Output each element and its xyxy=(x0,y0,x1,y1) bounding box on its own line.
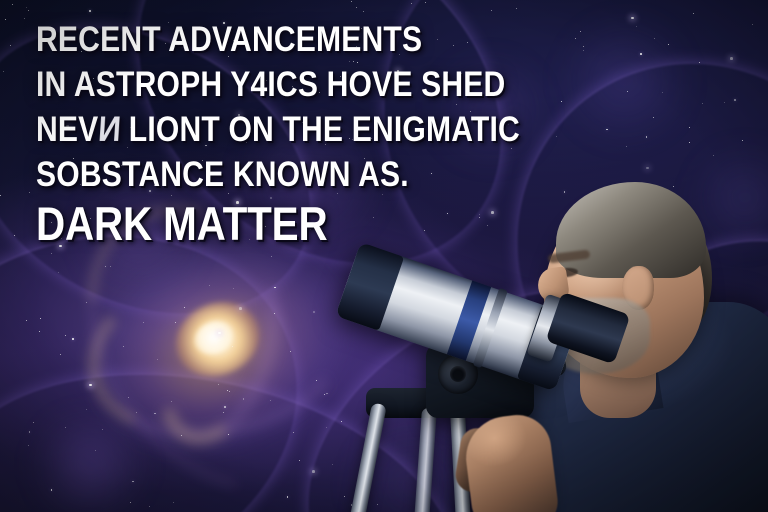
star xyxy=(689,127,690,128)
star xyxy=(627,91,628,92)
star xyxy=(26,320,27,321)
star xyxy=(223,412,224,413)
star xyxy=(209,285,210,286)
star xyxy=(89,384,92,387)
star xyxy=(636,26,637,27)
star xyxy=(730,57,733,60)
star xyxy=(271,256,272,257)
star xyxy=(89,10,91,12)
star xyxy=(60,354,61,355)
star xyxy=(274,313,275,314)
star xyxy=(26,7,27,8)
star xyxy=(363,11,364,12)
star xyxy=(105,266,107,268)
star xyxy=(130,502,131,503)
star xyxy=(626,146,627,147)
headline-block: RECENT ADVANCEMENTS IN ASTROPH Y4ICS HOV… xyxy=(36,22,576,247)
star xyxy=(72,338,74,340)
headline-line-3-after: LIONT ON THE ENIGMATIC xyxy=(120,110,520,149)
star xyxy=(28,10,29,11)
star xyxy=(742,140,743,141)
star xyxy=(646,136,648,138)
star xyxy=(51,489,53,491)
star xyxy=(143,322,144,323)
star xyxy=(654,38,655,39)
star xyxy=(270,400,271,401)
tripod-leg xyxy=(349,403,387,512)
star xyxy=(299,460,300,461)
star xyxy=(293,432,294,433)
star xyxy=(583,46,584,47)
star xyxy=(425,2,426,3)
star xyxy=(157,359,158,360)
star xyxy=(65,335,66,336)
star xyxy=(173,502,174,503)
star xyxy=(224,406,226,408)
star xyxy=(290,351,291,352)
star xyxy=(229,391,230,392)
star xyxy=(0,195,1,196)
star xyxy=(516,8,517,9)
star xyxy=(24,18,25,19)
headline-line-5: DARK MATTER xyxy=(36,200,500,247)
star xyxy=(734,99,736,101)
star xyxy=(40,318,41,319)
star xyxy=(646,167,649,170)
star xyxy=(228,434,229,435)
star xyxy=(86,409,87,410)
refractor-telescope xyxy=(330,218,640,512)
star xyxy=(713,155,714,156)
star xyxy=(356,7,357,8)
star xyxy=(693,13,694,14)
star xyxy=(12,4,13,5)
star xyxy=(128,397,129,398)
headline-glyph-artifact: И xyxy=(97,112,122,147)
star xyxy=(313,311,315,313)
star xyxy=(29,192,30,193)
star xyxy=(58,272,59,273)
star xyxy=(29,431,31,433)
star xyxy=(287,496,289,498)
star xyxy=(668,44,669,45)
star xyxy=(110,266,111,267)
star xyxy=(239,307,242,310)
star xyxy=(95,450,96,451)
star xyxy=(39,331,40,332)
star xyxy=(51,253,52,254)
star xyxy=(232,346,233,347)
star xyxy=(149,506,150,507)
star xyxy=(662,92,663,93)
star xyxy=(132,481,134,483)
objective-lens-cap xyxy=(335,242,404,331)
hand-on-tripod xyxy=(461,411,560,512)
star xyxy=(175,322,176,323)
headline-line-3-before: NEV xyxy=(36,110,98,149)
headline-line-2: IN ASTROPH Y4ICS HOVE SHED xyxy=(36,67,500,102)
star xyxy=(171,401,172,402)
star xyxy=(184,307,185,308)
star xyxy=(218,332,221,335)
star xyxy=(5,19,6,20)
star xyxy=(181,435,182,436)
headline-line-3: NEVИ LIONT ON THE ENIGMATIC xyxy=(36,112,500,147)
star xyxy=(631,17,634,20)
star xyxy=(233,288,234,289)
star xyxy=(640,53,642,55)
star xyxy=(65,427,66,428)
tripod-leg xyxy=(414,407,437,512)
star xyxy=(491,10,492,11)
star xyxy=(689,142,690,143)
star xyxy=(326,393,328,395)
star xyxy=(136,412,137,413)
star xyxy=(274,287,276,289)
star xyxy=(724,102,725,103)
star xyxy=(606,129,608,131)
star xyxy=(580,31,581,32)
star xyxy=(3,71,4,72)
star xyxy=(583,50,584,51)
star xyxy=(312,470,315,473)
star xyxy=(411,3,412,4)
star xyxy=(14,235,15,236)
star xyxy=(351,1,352,2)
star xyxy=(33,422,34,423)
star xyxy=(154,413,156,415)
star xyxy=(326,427,327,428)
banner-image: RECENT ADVANCEMENTS IN ASTROPH Y4ICS HOV… xyxy=(0,0,768,512)
headline-line-4: SOBSTANCE KNOWN AS. xyxy=(36,157,500,192)
star xyxy=(243,398,245,400)
star xyxy=(752,24,753,25)
star xyxy=(324,394,326,396)
star xyxy=(702,103,703,104)
star xyxy=(86,302,87,303)
star xyxy=(102,429,103,430)
star xyxy=(699,62,700,63)
star xyxy=(218,384,219,385)
star xyxy=(28,445,29,446)
star xyxy=(653,117,654,118)
star xyxy=(316,380,317,381)
star xyxy=(227,390,228,391)
star xyxy=(10,45,11,46)
star xyxy=(123,346,124,347)
headline-line-1: RECENT ADVANCEMENTS xyxy=(36,22,500,57)
